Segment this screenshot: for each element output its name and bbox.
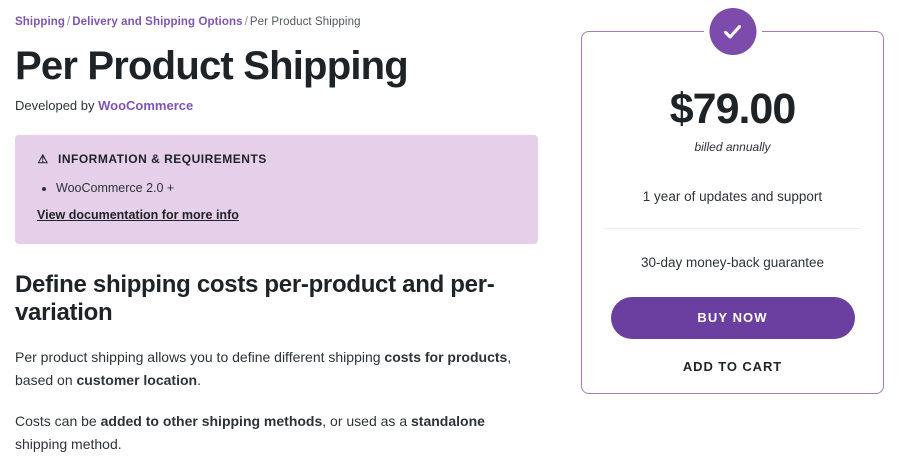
main-content-column: Shipping/Delivery and Shipping Options/P… (15, 0, 555, 456)
billing-note: billed annually (582, 140, 883, 154)
warning-triangle-icon: ⚠ (37, 153, 49, 165)
body-text: Costs can be (15, 413, 101, 429)
developer-link-woocommerce[interactable]: WooCommerce (98, 98, 193, 113)
description-paragraph-1: Per product shipping allows you to defin… (15, 346, 535, 391)
emphasized-text: costs for products (384, 349, 507, 365)
breadcrumb-separator-1: / (67, 16, 70, 28)
section-title: Define shipping costs per-product and pe… (15, 271, 555, 327)
emphasized-text: standalone (411, 413, 485, 429)
feature-divider (604, 228, 861, 229)
info-box-heading-text: INFORMATION & REQUIREMENTS (58, 152, 267, 166)
info-box-heading-row: ⚠ INFORMATION & REQUIREMENTS (37, 152, 516, 166)
view-documentation-link[interactable]: View documentation for more info (37, 208, 239, 222)
breadcrumb-link-shipping[interactable]: Shipping (15, 16, 65, 28)
breadcrumb: Shipping/Delivery and Shipping Options/P… (15, 0, 555, 28)
emphasized-text: added to other shipping methods (101, 413, 323, 429)
price-amount: $79.00 (582, 88, 883, 131)
body-text: Per product shipping allows you to defin… (15, 349, 384, 365)
page-title: Per Product Shipping (15, 45, 555, 87)
breadcrumb-link-delivery-and-shipping-options[interactable]: Delivery and Shipping Options (72, 16, 242, 28)
body-text: . (197, 372, 201, 388)
body-text: , or used as a (322, 413, 411, 429)
list-item: WooCommerce 2.0 + (56, 179, 516, 198)
breadcrumb-current-page: Per Product Shipping (250, 16, 361, 28)
pricing-card: $79.00 billed annually 1 year of updates… (581, 31, 884, 394)
buy-now-button[interactable]: BUY NOW (611, 297, 855, 339)
add-to-cart-button[interactable]: ADD TO CART (582, 359, 883, 374)
breadcrumb-separator-2: / (245, 16, 248, 28)
description-paragraph-2: Costs can be added to other shipping met… (15, 410, 535, 455)
check-circle-icon (709, 8, 756, 55)
information-requirements-box: ⚠ INFORMATION & REQUIREMENTS WooCommerce… (15, 135, 538, 244)
developed-by-prefix: Developed by (15, 98, 98, 113)
feature-updates-and-support: 1 year of updates and support (582, 189, 883, 204)
developed-by-line: Developed by WooCommerce (15, 98, 555, 113)
requirements-list: WooCommerce 2.0 + (37, 179, 516, 198)
emphasized-text: customer location (77, 372, 198, 388)
body-text: shipping method. (15, 436, 122, 452)
feature-money-back-guarantee: 30-day money-back guarantee (582, 255, 883, 270)
